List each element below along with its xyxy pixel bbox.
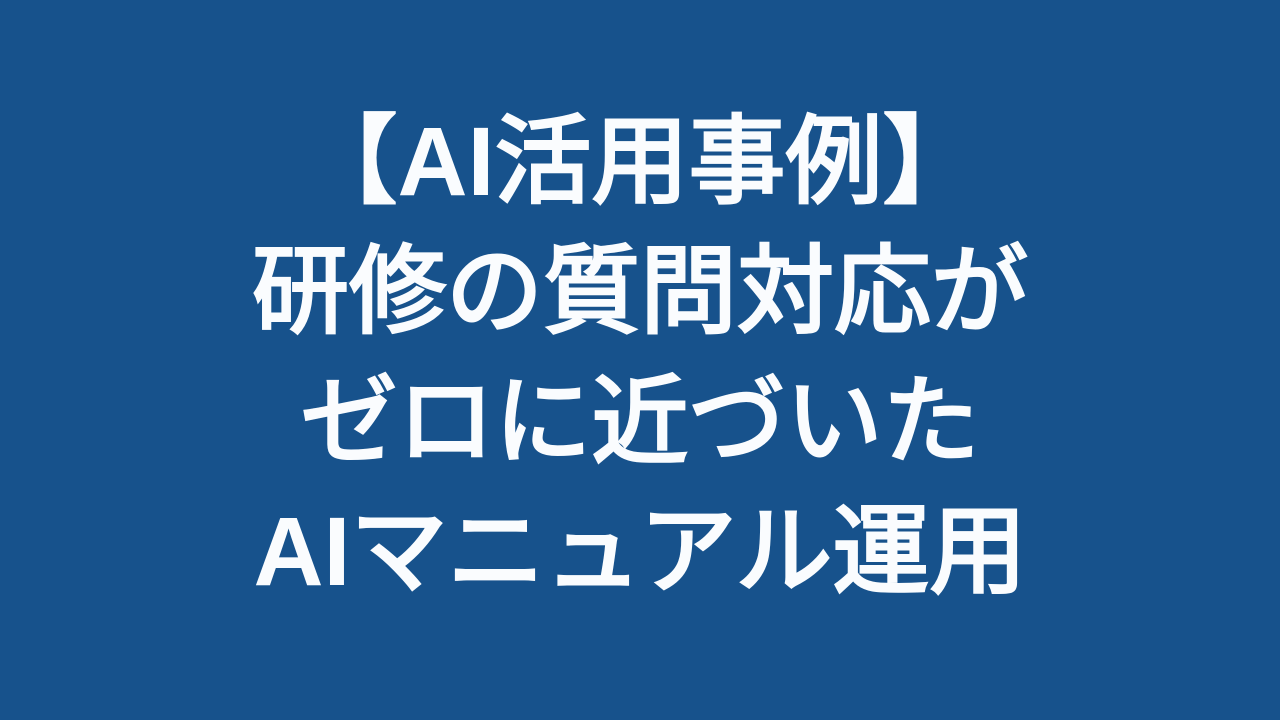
title-line-1: 【AI活用事例】 xyxy=(0,97,1280,227)
title-card: 【AI活用事例】 研修の質問対応が ゼロに近づいた AIマニュアル運用 xyxy=(0,0,1280,720)
title-text-block: 【AI活用事例】 研修の質問対応が ゼロに近づいた AIマニュアル運用 xyxy=(0,97,1280,623)
title-line-2: 研修の質問対応が xyxy=(0,227,1280,357)
title-line-3: ゼロに近づいた xyxy=(0,357,1280,487)
title-line-4: AIマニュアル運用 xyxy=(0,487,1280,617)
